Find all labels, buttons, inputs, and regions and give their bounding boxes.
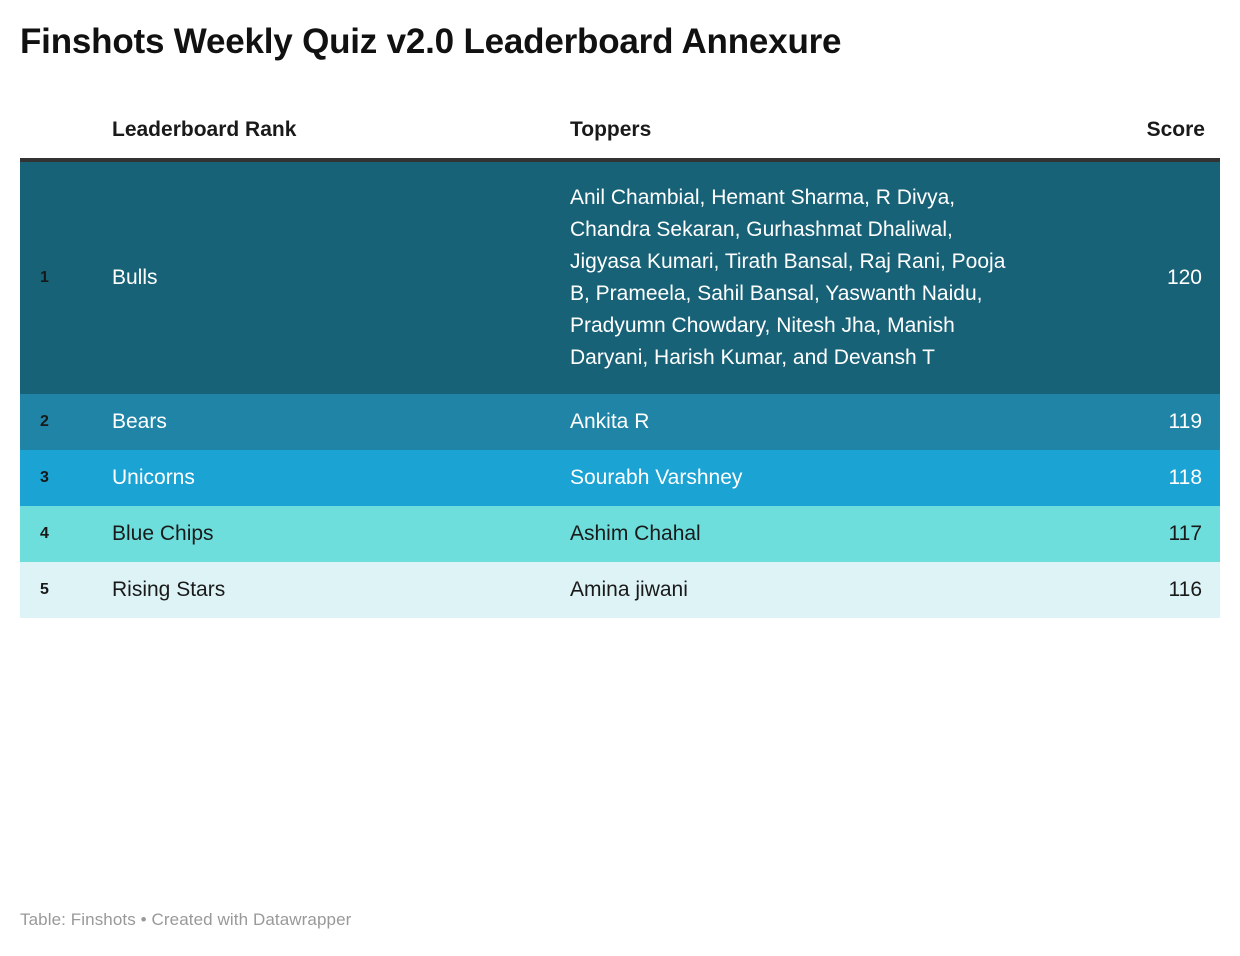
table-row[interactable]: 5Rising StarsAmina jiwani116 xyxy=(20,562,1220,618)
cell-score: 118 xyxy=(1025,450,1220,506)
cell-rank-number: 3 xyxy=(20,450,112,506)
table-body: 1BullsAnil Chambial, Hemant Sharma, R Di… xyxy=(20,160,1220,618)
cell-toppers: Anil Chambial, Hemant Sharma, R Divya, C… xyxy=(555,160,1025,394)
cell-score: 117 xyxy=(1025,506,1220,562)
table-header-row: Leaderboard Rank Toppers Score xyxy=(20,118,1220,160)
column-header-leaderboard-rank[interactable]: Leaderboard Rank xyxy=(112,118,555,160)
cell-team-name: Bulls xyxy=(112,160,555,394)
page-title: Finshots Weekly Quiz v2.0 Leaderboard An… xyxy=(20,20,1220,64)
cell-team-name: Blue Chips xyxy=(112,506,555,562)
leaderboard-page: Finshots Weekly Quiz v2.0 Leaderboard An… xyxy=(0,0,1240,956)
cell-team-name: Unicorns xyxy=(112,450,555,506)
cell-team-name: Rising Stars xyxy=(112,562,555,618)
table-header: Leaderboard Rank Toppers Score xyxy=(20,118,1220,160)
cell-rank-number: 2 xyxy=(20,394,112,450)
cell-rank-number: 5 xyxy=(20,562,112,618)
cell-toppers: Ashim Chahal xyxy=(555,506,1025,562)
table-row[interactable]: 3UnicornsSourabh Varshney118 xyxy=(20,450,1220,506)
cell-rank-number: 4 xyxy=(20,506,112,562)
table-source-footer: Table: Finshots • Created with Datawrapp… xyxy=(20,910,351,930)
cell-score: 119 xyxy=(1025,394,1220,450)
table-row[interactable]: 1BullsAnil Chambial, Hemant Sharma, R Di… xyxy=(20,160,1220,394)
table-row[interactable]: 2BearsAnkita R119 xyxy=(20,394,1220,450)
leaderboard-table-wrap: Leaderboard Rank Toppers Score 1BullsAni… xyxy=(20,118,1220,618)
cell-rank-number: 1 xyxy=(20,160,112,394)
cell-score: 116 xyxy=(1025,562,1220,618)
cell-score: 120 xyxy=(1025,160,1220,394)
column-header-score[interactable]: Score xyxy=(1025,118,1220,160)
cell-toppers: Sourabh Varshney xyxy=(555,450,1025,506)
column-header-rank-number[interactable] xyxy=(20,118,112,160)
cell-team-name: Bears xyxy=(112,394,555,450)
table-row[interactable]: 4Blue ChipsAshim Chahal117 xyxy=(20,506,1220,562)
leaderboard-table: Leaderboard Rank Toppers Score 1BullsAni… xyxy=(20,118,1220,618)
cell-toppers: Amina jiwani xyxy=(555,562,1025,618)
column-header-toppers[interactable]: Toppers xyxy=(555,118,1025,160)
cell-toppers: Ankita R xyxy=(555,394,1025,450)
